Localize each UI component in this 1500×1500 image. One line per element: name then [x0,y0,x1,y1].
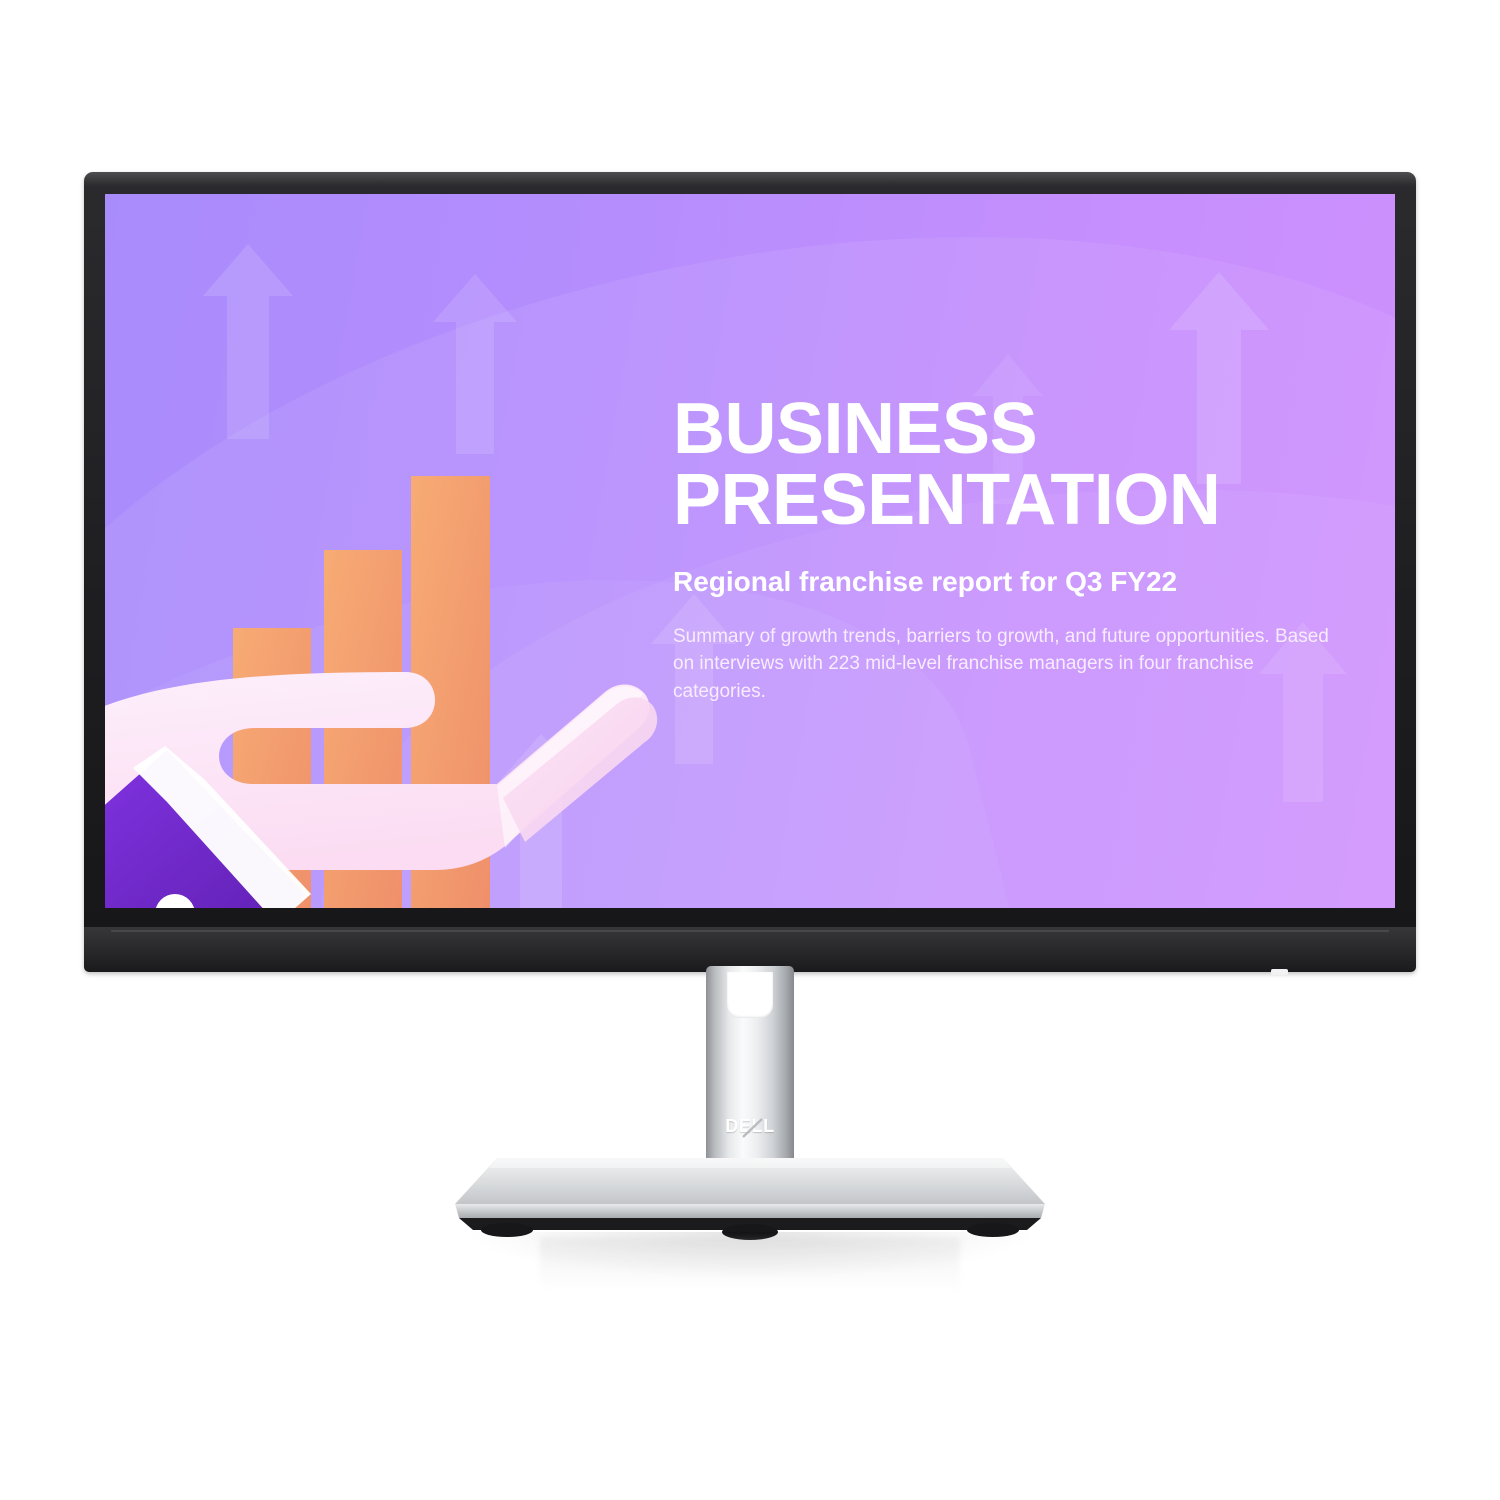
stand-foot [967,1223,1019,1237]
page-title: BUSINESS PRESENTATION [673,394,1363,535]
slide-text-block: BUSINESS PRESENTATION Regional franchise… [673,394,1363,706]
chin-highlight [111,930,1390,932]
cable-management-hole [727,972,773,1018]
slide-illustration [105,194,725,908]
stand-foot [481,1223,533,1237]
monitor-stand-base [455,1152,1045,1242]
monitor-stand-neck: DELL [706,966,794,1166]
stand-reflection [540,1238,960,1298]
monitor-device: BUSINESS PRESENTATION Regional franchise… [84,172,1416,972]
monitor-screen[interactable]: BUSINESS PRESENTATION Regional franchise… [105,194,1395,908]
bezel-top-sheen [84,172,1416,186]
dell-logo: DELL [725,1116,774,1137]
power-led-indicator[interactable] [1271,969,1288,975]
slide-body-text: Summary of growth trends, barriers to gr… [673,623,1333,706]
slide-subtitle: Regional franchise report for Q3 FY22 [673,565,1363,599]
stand-foot [722,1224,778,1240]
